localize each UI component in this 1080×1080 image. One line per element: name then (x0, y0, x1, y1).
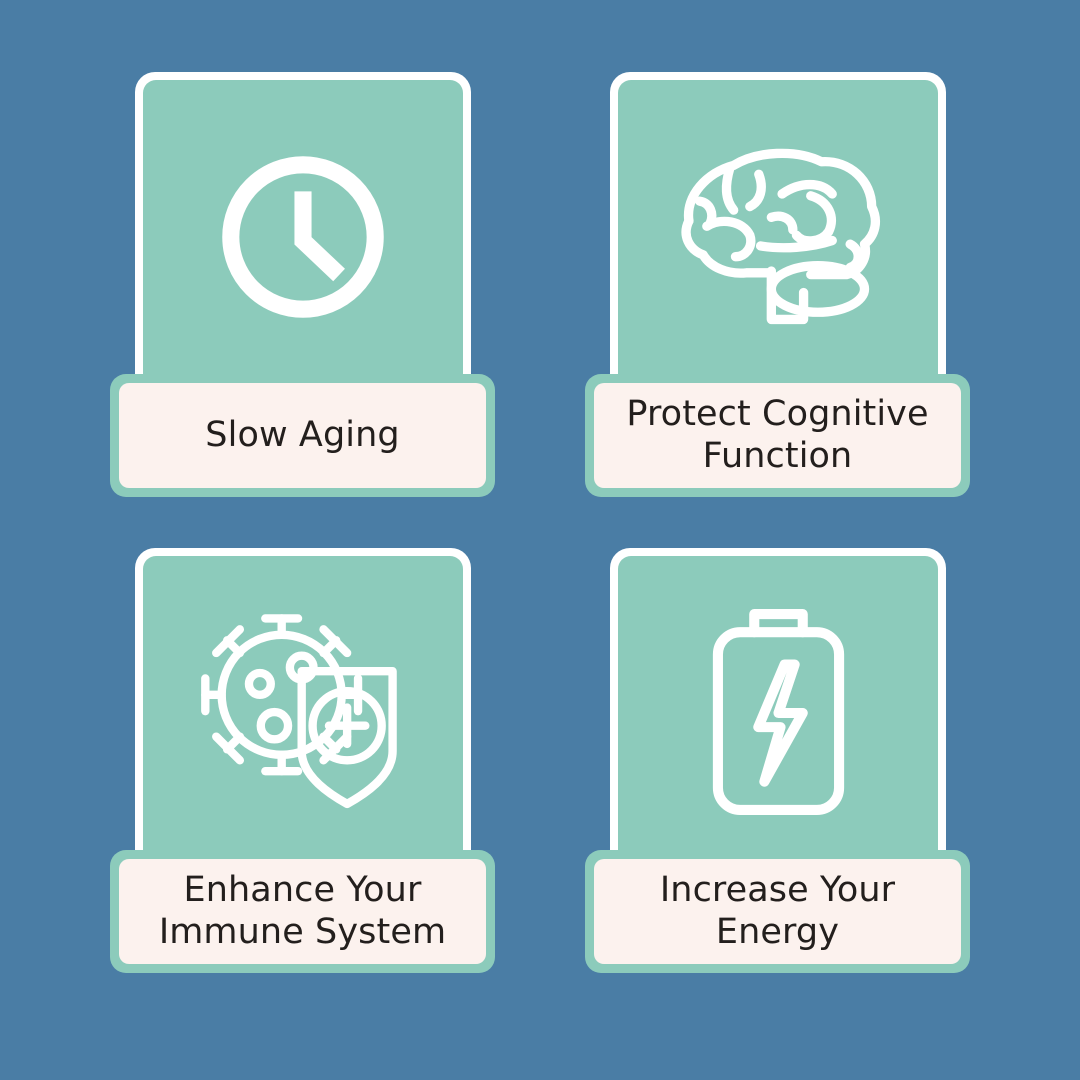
battery-bolt-icon (701, 608, 856, 818)
benefits-infographic: Slow Aging (0, 0, 1080, 1080)
label-plate: Protect Cognitive Function (585, 374, 970, 497)
icon-frame (135, 548, 471, 878)
benefit-label: Protect Cognitive Function (616, 394, 938, 477)
label-inner: Enhance Your Immune System (119, 859, 486, 964)
icon-panel (143, 80, 463, 394)
benefit-card-slow-aging[interactable]: Slow Aging (110, 72, 495, 497)
label-inner: Increase Your Energy (594, 859, 961, 964)
label-plate: Slow Aging (110, 374, 495, 497)
icon-frame (610, 72, 946, 402)
clock-icon (208, 142, 398, 332)
virus-shield-icon (196, 613, 411, 813)
benefit-card-enhance-your-immune-system[interactable]: Enhance Your Immune System (110, 548, 495, 973)
icon-panel (618, 80, 938, 394)
label-inner: Slow Aging (119, 383, 486, 488)
benefit-card-protect-cognitive-function[interactable]: Protect Cognitive Function (585, 72, 970, 497)
benefit-label: Increase Your Energy (650, 870, 905, 953)
icon-panel (143, 556, 463, 870)
benefit-label: Enhance Your Immune System (149, 870, 456, 953)
icon-frame (610, 548, 946, 878)
label-plate: Enhance Your Immune System (110, 850, 495, 973)
label-inner: Protect Cognitive Function (594, 383, 961, 488)
brain-icon (671, 142, 886, 332)
benefit-label: Slow Aging (195, 415, 409, 456)
benefit-card-increase-your-energy[interactable]: Increase Your Energy (585, 548, 970, 973)
label-plate: Increase Your Energy (585, 850, 970, 973)
icon-frame (135, 72, 471, 402)
icon-panel (618, 556, 938, 870)
